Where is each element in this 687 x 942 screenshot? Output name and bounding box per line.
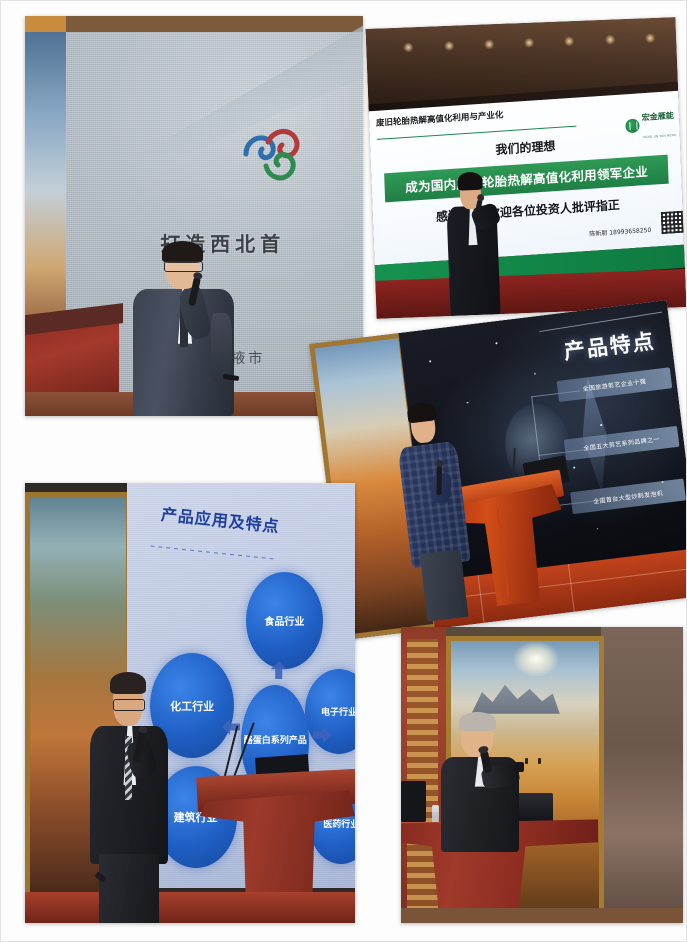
slide-title: 产品特点 xyxy=(562,325,657,366)
bubble-electronics: 电子行业 xyxy=(305,669,355,754)
contact-name: 陈新朋 xyxy=(589,230,607,238)
contact-line: 陈新朋 18993658250 xyxy=(589,225,651,238)
speaker-figure xyxy=(439,175,506,316)
feature-box: 全国五大剪艺系列品牌之一 xyxy=(564,425,679,460)
stage-floor xyxy=(401,908,683,923)
photo-image: 产品特点 全国旅游剪艺企业十强 全国五大剪艺系列品牌之一 全国首台大型炒制发泡机 xyxy=(309,300,687,640)
bubble-food: 食品行业 xyxy=(246,572,323,669)
speaker-figure xyxy=(126,244,241,416)
feature-label: 全国旅游剪艺企业十强 xyxy=(582,376,647,393)
brand-name: 宏金雁能 xyxy=(641,111,673,122)
bubble-label: 电子行业 xyxy=(321,705,355,718)
contact-phone: 18993658250 xyxy=(609,227,651,237)
photo-image: 废旧轮胎热解高值化利用与产业化 宏金雁能 HONG JIN YAN NENG 我… xyxy=(366,17,687,319)
glasses-icon xyxy=(113,699,145,711)
feature-box: 全国旅游剪艺企业十强 xyxy=(557,367,672,402)
photo-panel-speaker-desert-painting[interactable] xyxy=(401,627,683,923)
stage-speaker-box xyxy=(401,781,426,822)
slide-title: 产品应用及特点 xyxy=(161,501,282,537)
bubble-label: 化工行业 xyxy=(170,698,214,714)
wall-right xyxy=(601,627,683,923)
photo-panel-green-vision-slide[interactable]: 废旧轮胎热解高值化利用与产业化 宏金雁能 HONG JIN YAN NENG 我… xyxy=(366,17,687,319)
photo-image: 产品应用及特点 化工行业 食品行业 电子行业 建筑行业 医 xyxy=(25,483,355,923)
feature-box: 全国首台大型炒制发泡机 xyxy=(570,479,685,514)
projection-screen: 废旧轮胎热解高值化利用与产业化 宏金雁能 HONG JIN YAN NENG 我… xyxy=(366,91,687,266)
bubble-label: 食品行业 xyxy=(264,613,304,628)
photo-panel-product-application-slide[interactable]: 产品应用及特点 化工行业 食品行业 电子行业 建筑行业 医 xyxy=(25,483,355,923)
stage-floor xyxy=(25,892,355,923)
speaker-figure xyxy=(438,716,523,852)
wall-ornament xyxy=(407,639,438,911)
glasses-icon xyxy=(164,261,203,272)
microphone-icon xyxy=(436,465,441,495)
bubble-label: 酪蛋白系列产品 xyxy=(244,736,307,747)
feature-label: 全国首台大型炒制发泡机 xyxy=(593,488,664,506)
cloud-motif-logo-icon xyxy=(238,124,312,182)
photo-panel-product-features-slide[interactable]: 产品特点 全国旅游剪艺企业十强 全国五大剪艺系列品牌之一 全国首台大型炒制发泡机 xyxy=(309,300,687,640)
feature-label: 全国五大剪艺系列品牌之一 xyxy=(583,434,660,452)
photo-collage: 打造西北首 张掖市 xyxy=(0,0,687,942)
qr-code-icon xyxy=(661,211,684,234)
presentation-clicker xyxy=(515,762,523,772)
speaker-figure xyxy=(84,677,173,923)
side-banner-top xyxy=(25,16,66,32)
title-underline xyxy=(150,545,275,559)
photo-image xyxy=(401,627,683,923)
